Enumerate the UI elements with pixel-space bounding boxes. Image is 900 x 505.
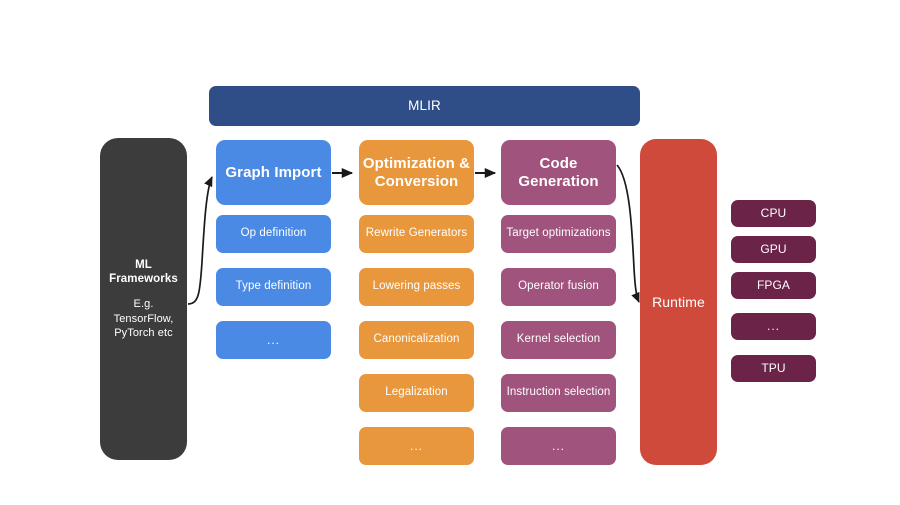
stage-item-optimization-more-label: ... <box>410 439 423 453</box>
stage-header-code-generation: Code Generation <box>501 140 616 205</box>
hardware-target-tpu: TPU <box>731 355 816 382</box>
ml-frameworks-title: ML Frameworks <box>108 258 179 287</box>
stage-header-graph-import: Graph Import <box>216 140 331 205</box>
hardware-target-fpga-label: FPGA <box>757 278 790 292</box>
stage-header-optimization-conversion-label: Optimization & Conversion <box>359 155 474 190</box>
hardware-target-tpu-label: TPU <box>761 361 785 375</box>
hardware-target-gpu-label: GPU <box>760 242 786 256</box>
stage-item-rewrite-generators: Rewrite Generators <box>359 215 474 253</box>
stage-item-canonicalization-label: Canonicalization <box>374 333 460 347</box>
stage-item-instruction-selection: Instruction selection <box>501 374 616 412</box>
stage-header-code-generation-label: Code Generation <box>501 155 616 190</box>
ml-frameworks-box: ML Frameworks E.g. TensorFlow, PyTorch e… <box>100 138 187 460</box>
stage-item-operator-fusion-label: Operator fusion <box>518 280 599 294</box>
stage-item-target-optimizations: Target optimizations <box>501 215 616 253</box>
mlir-banner-label: MLIR <box>408 98 441 114</box>
hardware-target-more-label: ... <box>767 319 780 333</box>
ml-frameworks-subtitle: E.g. TensorFlow, PyTorch etc <box>108 297 179 340</box>
stage-item-legalization: Legalization <box>359 374 474 412</box>
stage-item-op-definition: Op definition <box>216 215 331 253</box>
hardware-target-cpu-label: CPU <box>761 206 787 220</box>
stage-item-type-definition-label: Type definition <box>236 280 312 294</box>
mlir-banner: MLIR <box>209 86 640 126</box>
stage-item-operator-fusion: Operator fusion <box>501 268 616 306</box>
stage-item-rewrite-generators-label: Rewrite Generators <box>366 227 468 241</box>
hardware-target-more: ... <box>731 313 816 340</box>
stage-item-target-optimizations-label: Target optimizations <box>506 227 610 241</box>
stage-item-lowering-passes-label: Lowering passes <box>373 280 461 294</box>
hardware-target-cpu: CPU <box>731 200 816 227</box>
stage-item-code-generation-more: ... <box>501 427 616 465</box>
stage-item-lowering-passes: Lowering passes <box>359 268 474 306</box>
stage-item-graph-import-more: ... <box>216 321 331 359</box>
stage-item-code-generation-more-label: ... <box>552 439 565 453</box>
hardware-target-fpga: FPGA <box>731 272 816 299</box>
stage-item-legalization-label: Legalization <box>385 386 448 400</box>
stage-header-optimization-conversion: Optimization & Conversion <box>359 140 474 205</box>
stage-item-type-definition: Type definition <box>216 268 331 306</box>
runtime-box: Runtime <box>640 139 717 465</box>
arrow-frameworks-to-graph-import <box>188 177 212 304</box>
arrow-code-generation-to-runtime <box>617 165 639 302</box>
stage-item-graph-import-more-label: ... <box>267 333 280 347</box>
stage-item-canonicalization: Canonicalization <box>359 321 474 359</box>
stage-header-graph-import-label: Graph Import <box>225 164 321 182</box>
runtime-label: Runtime <box>652 294 705 311</box>
stage-item-optimization-more: ... <box>359 427 474 465</box>
hardware-target-gpu: GPU <box>731 236 816 263</box>
stage-item-instruction-selection-label: Instruction selection <box>507 386 611 400</box>
stage-item-op-definition-label: Op definition <box>241 227 307 241</box>
diagram-canvas: MLIR ML Frameworks E.g. TensorFlow, PyTo… <box>0 0 900 505</box>
stage-item-kernel-selection-label: Kernel selection <box>517 333 600 347</box>
stage-item-kernel-selection: Kernel selection <box>501 321 616 359</box>
